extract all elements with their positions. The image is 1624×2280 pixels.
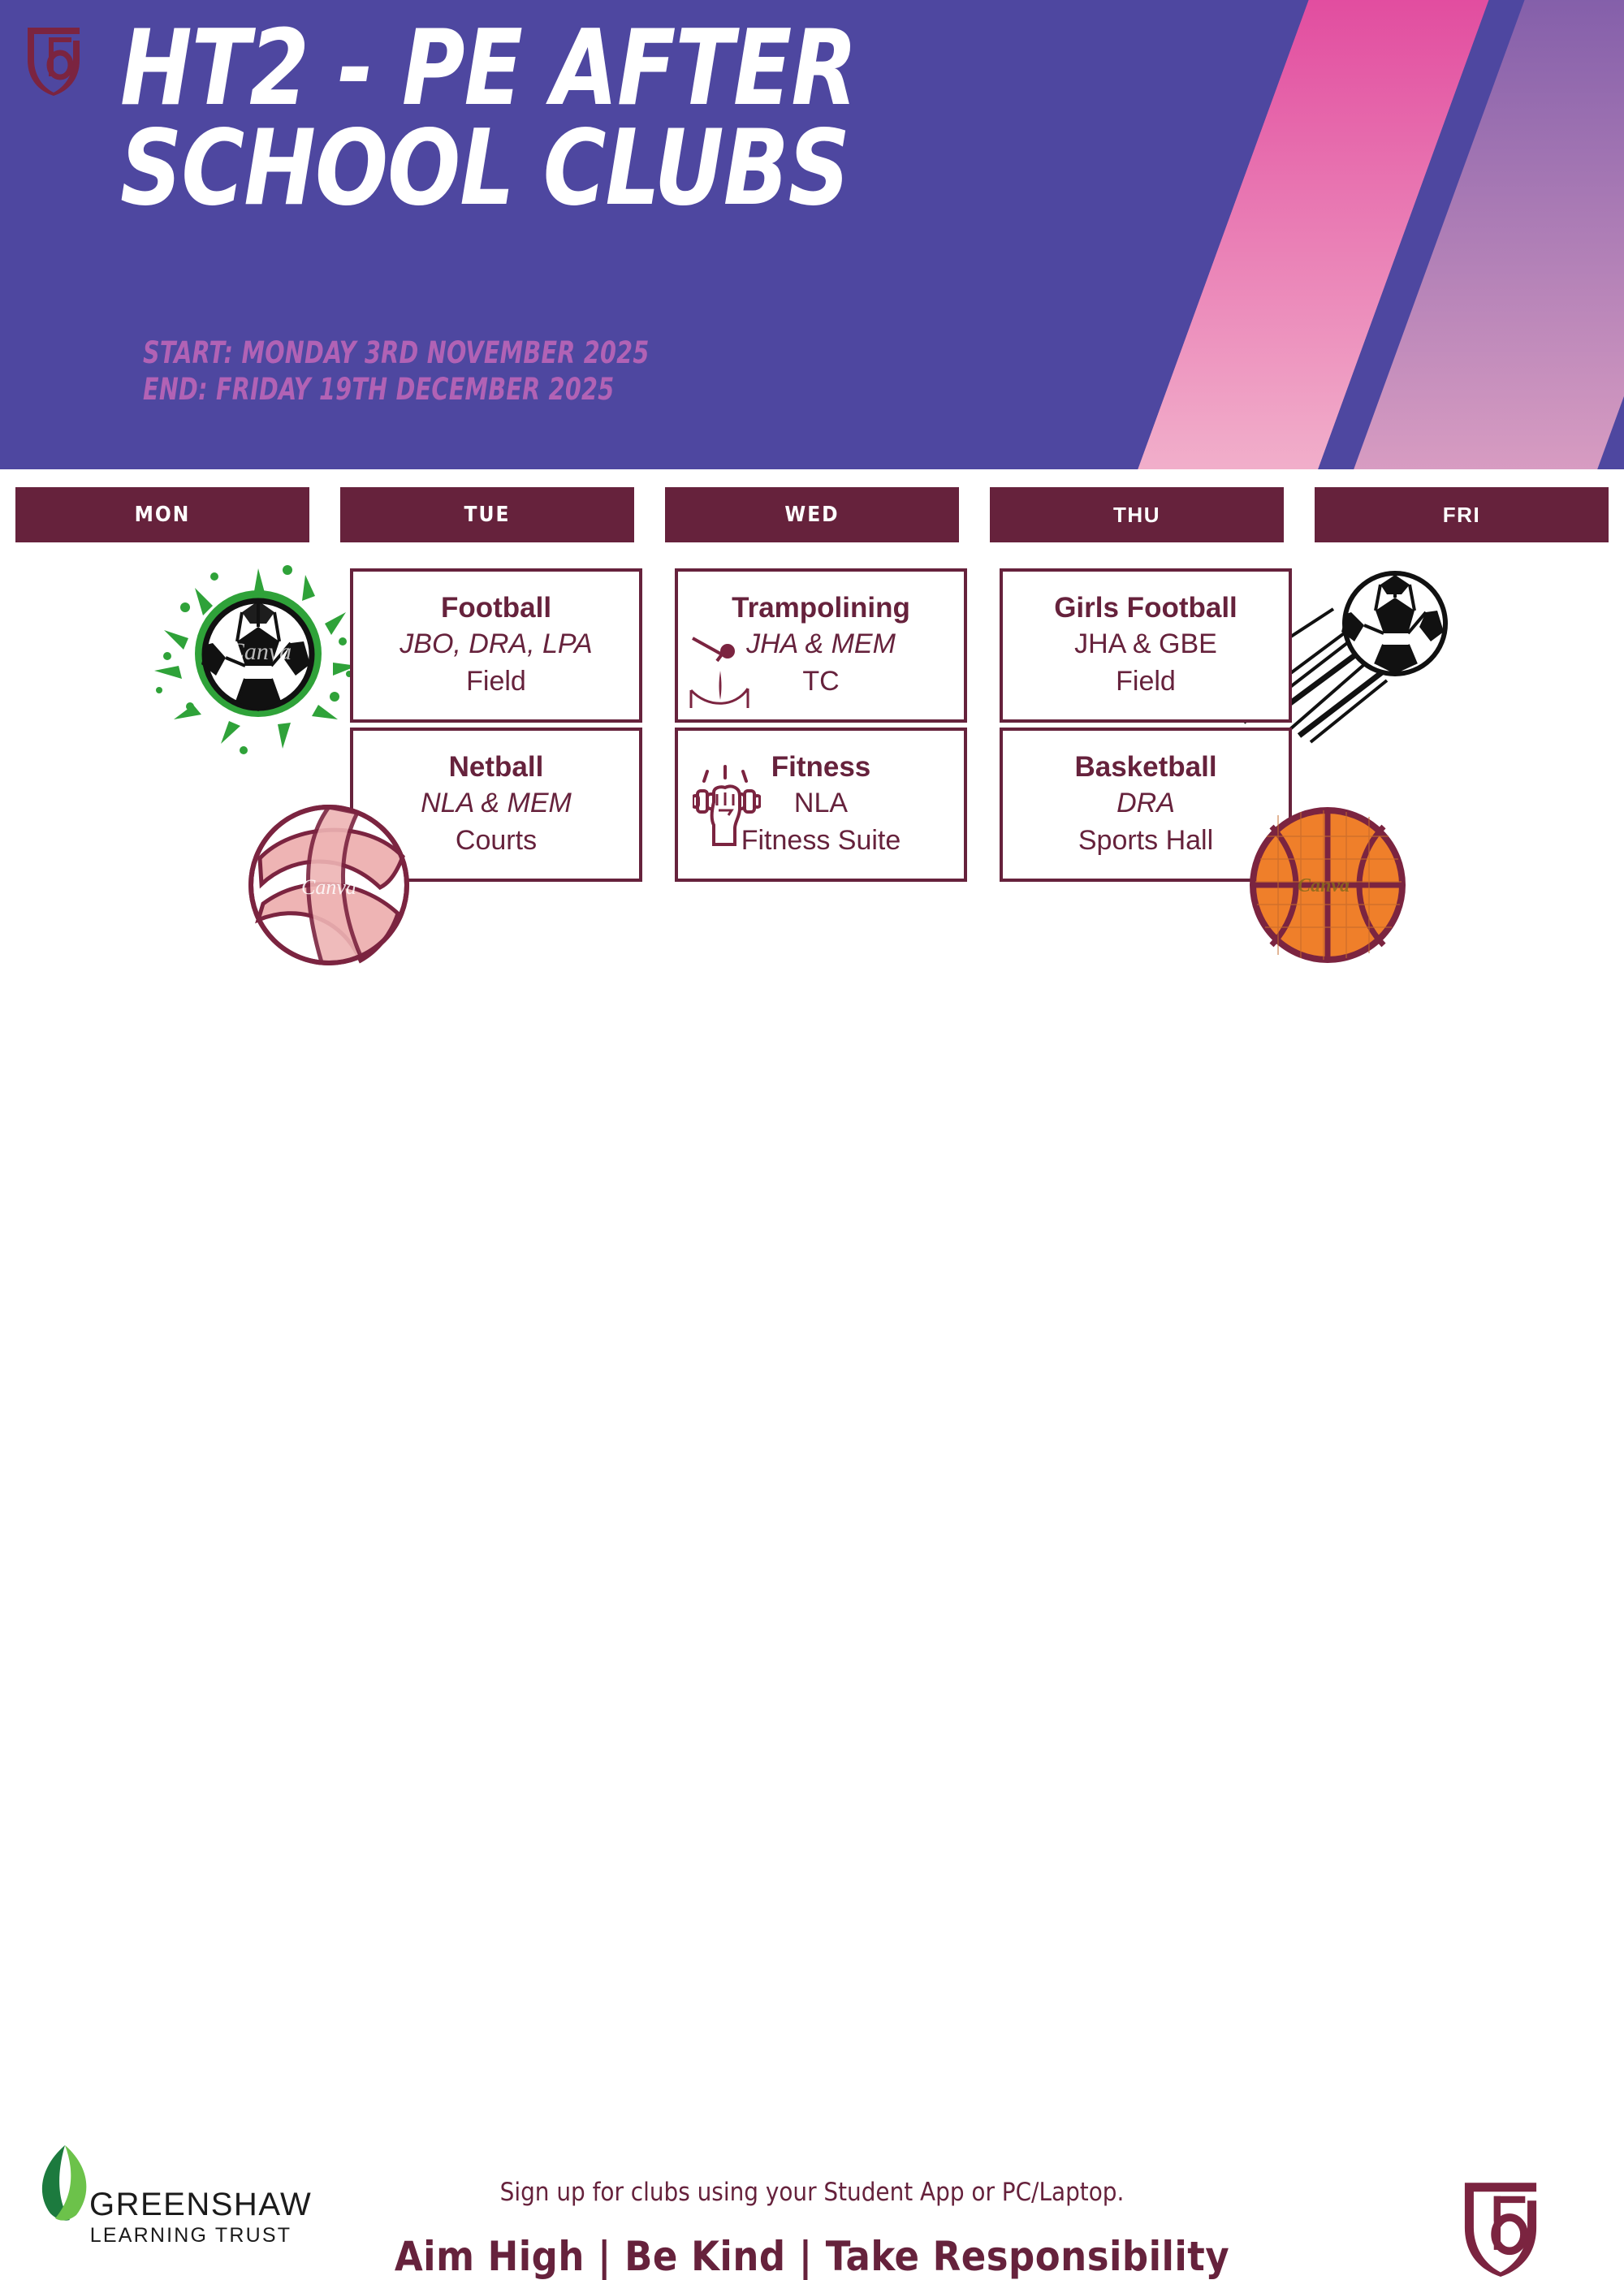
trust-name: GREENSHAW (89, 2188, 317, 2221)
club-staff: NLA & MEM (421, 784, 572, 823)
schedule-col-thu: Girls Football JHA & GBE Field Basketbal… (974, 568, 1299, 893)
page-title-line-2: SCHOOL CLUBS (120, 119, 1054, 219)
club-venue: Field (1116, 663, 1176, 700)
schedule-col-mon (0, 568, 325, 893)
club-staff: JHA & GBE (1074, 625, 1217, 663)
school-values: Aim High | Be Kind | Take Responsibility (357, 2233, 1267, 2280)
club-card-fitness[interactable]: Fitness NLA Fitness Suite (675, 728, 967, 882)
day-col-mon: MON (0, 487, 325, 542)
club-name: Trampolining (732, 591, 910, 625)
day-col-thu: THU (974, 487, 1299, 542)
day-header-tue: TUE (340, 487, 634, 542)
club-staff: JBO, DRA, LPA (400, 625, 592, 663)
schedule-grid: Football JBO, DRA, LPA Field Netball NLA… (0, 568, 1624, 893)
club-venue: Field (466, 663, 526, 700)
club-card-girls-football[interactable]: Girls Football JHA & GBE Field (1000, 568, 1292, 723)
club-card-trampolining[interactable]: Trampolining JHA & MEM TC (675, 568, 967, 723)
day-header-fri: FRI (1315, 487, 1609, 542)
term-start-date: START: MONDAY 3RD NOVEMBER 2025 (143, 335, 911, 371)
day-col-fri: FRI (1299, 487, 1624, 542)
club-staff: JHA & MEM (746, 625, 896, 663)
bishop-shield-logo-icon-footer (1458, 2176, 1543, 2277)
schedule-col-fri (1299, 568, 1624, 893)
schedule-col-wed: Trampolining JHA & MEM TC (650, 568, 974, 893)
day-col-wed: WED (650, 487, 974, 542)
day-header-mon: MON (15, 487, 309, 542)
club-card-football[interactable]: Football JBO, DRA, LPA Field (350, 568, 642, 723)
club-card-netball[interactable]: Netball NLA & MEM Courts (350, 728, 642, 882)
page-title: HT2 - PE AFTER SCHOOL CLUBS (120, 19, 1054, 219)
club-venue: TC (802, 663, 839, 700)
club-name: Netball (449, 750, 544, 784)
trust-subtitle: LEARNING TRUST (89, 2226, 292, 2246)
poster-header: HT2 - PE AFTER SCHOOL CLUBS START: MONDA… (0, 0, 1624, 469)
club-name: Girls Football (1054, 591, 1237, 625)
greenshaw-learning-trust-logo: GREENSHAW LEARNING TRUST (89, 2188, 317, 2246)
day-col-tue: TUE (325, 487, 650, 542)
club-venue: Fitness Suite (741, 823, 901, 859)
club-name: Basketball (1074, 750, 1216, 784)
club-staff: NLA (794, 784, 848, 823)
trampolining-icon (689, 633, 749, 711)
greenshaw-leaf-icon (32, 2144, 96, 2223)
bishop-shield-logo-icon (24, 23, 83, 96)
club-name: Football (441, 591, 551, 625)
signup-instruction: Sign up for clubs using your Student App… (406, 2178, 1218, 2207)
day-header-wed: WED (665, 487, 959, 542)
schedule-col-tue: Football JBO, DRA, LPA Field Netball NLA… (325, 568, 650, 893)
term-dates: START: MONDAY 3RD NOVEMBER 2025 END: FRI… (143, 335, 911, 408)
club-venue: Sports Hall (1078, 823, 1213, 859)
term-end-date: END: FRIDAY 19TH DECEMBER 2025 (143, 371, 911, 408)
poster-footer: GREENSHAW LEARNING TRUST Sign up for clu… (0, 1064, 1624, 1254)
page-title-line-1: HT2 - PE AFTER (120, 19, 1054, 119)
day-header-thu: THU (990, 487, 1284, 542)
club-venue: Courts (456, 823, 537, 859)
day-header-row: MON TUE WED THU FRI (0, 487, 1624, 542)
poster-root: HT2 - PE AFTER SCHOOL CLUBS START: MONDA… (0, 0, 1624, 1254)
club-staff: DRA (1116, 784, 1175, 823)
dumbbell-fist-icon (693, 760, 761, 849)
club-name: Fitness (771, 750, 871, 784)
club-card-basketball[interactable]: Basketball DRA Sports Hall (1000, 728, 1292, 882)
